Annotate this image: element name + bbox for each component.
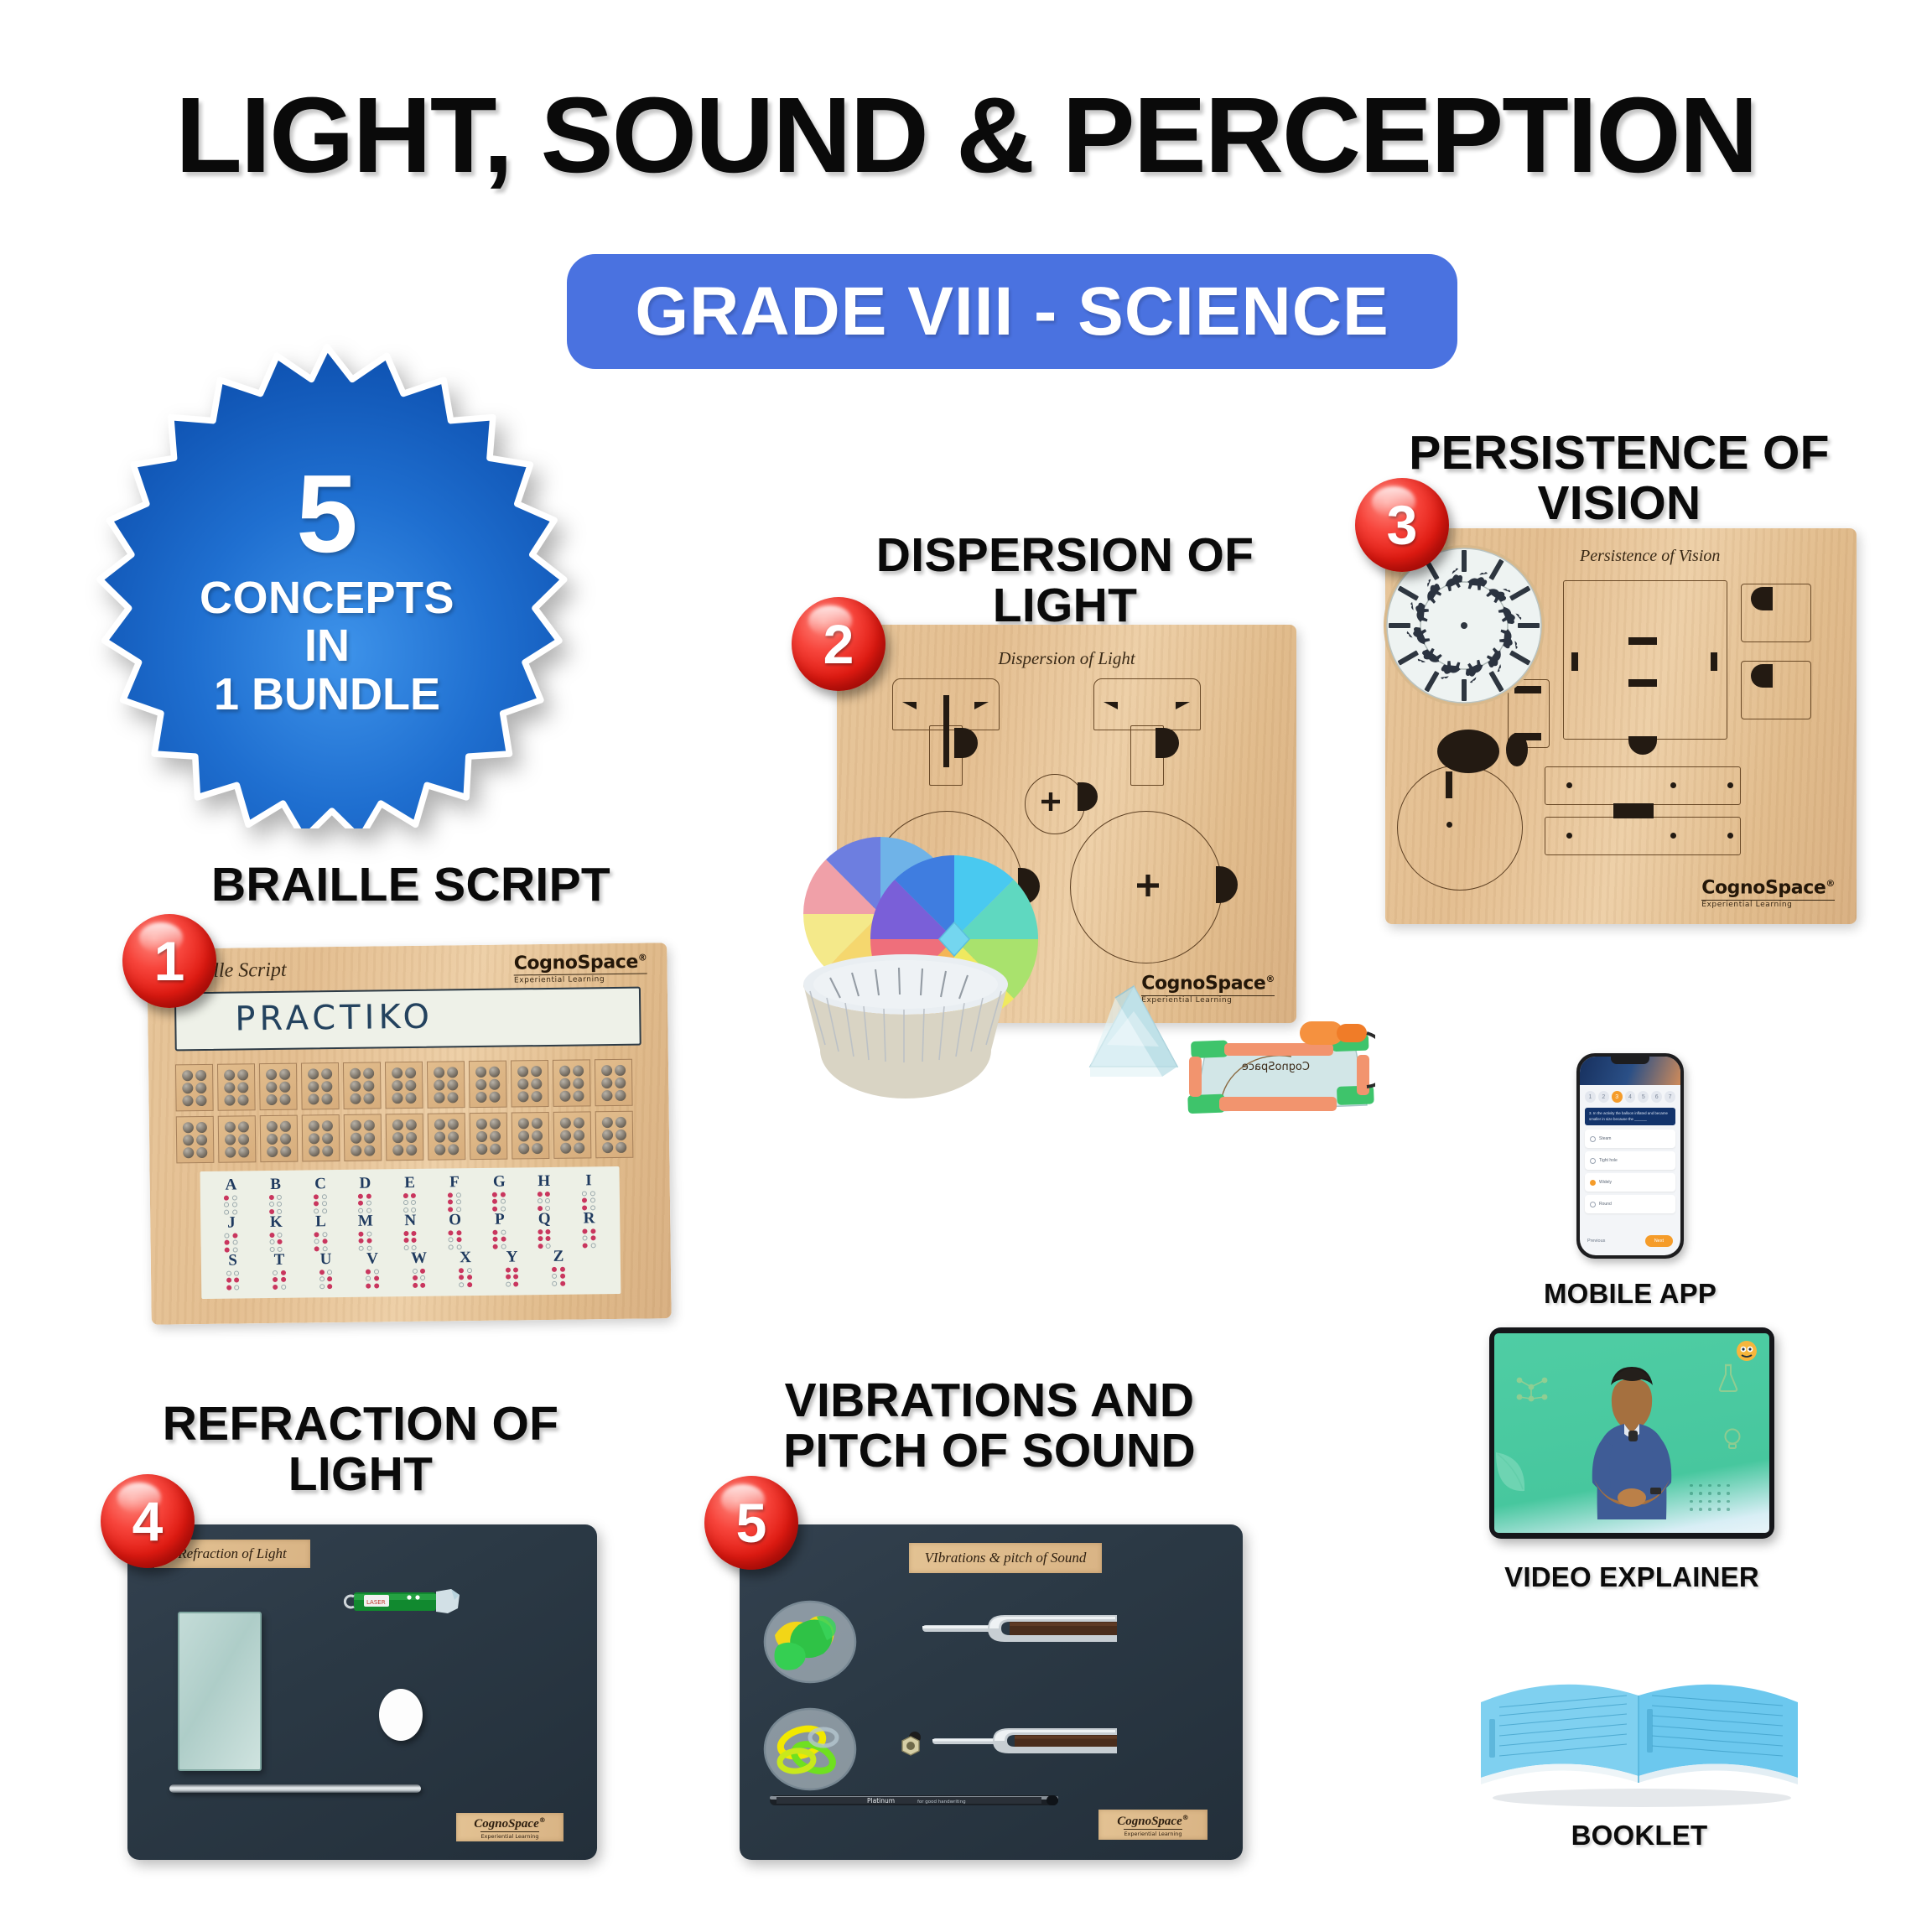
braille-peg[interactable] [518, 1118, 529, 1129]
braille-peg[interactable] [363, 1120, 374, 1131]
app-step-2[interactable]: 2 [1598, 1091, 1609, 1103]
braille-peg[interactable] [195, 1083, 206, 1093]
braille-alphabet-cell: S [210, 1252, 257, 1291]
app-step-6[interactable]: 6 [1651, 1091, 1662, 1103]
braille-peg[interactable] [238, 1146, 249, 1157]
braille-dot [224, 1196, 229, 1201]
braille-alphabet-cell: H [522, 1173, 567, 1212]
braille-peg[interactable] [573, 1117, 584, 1128]
braille-peg[interactable] [351, 1120, 361, 1131]
braille-dot [583, 1243, 588, 1248]
dispersion-accessories: CognoSpace [771, 822, 1375, 1124]
braille-dot [411, 1200, 416, 1205]
phone-screen[interactable]: 1 2 3 4 5 6 7 3. In the activity the bal… [1580, 1057, 1680, 1255]
braille-peg[interactable] [475, 1067, 486, 1078]
braille-peg[interactable] [224, 1070, 235, 1081]
pen[interactable]: Platinum for good handwriting [770, 1789, 1058, 1811]
braille-peg[interactable] [532, 1143, 543, 1154]
braille-peg[interactable] [406, 1145, 417, 1156]
braille-peg[interactable] [560, 1118, 571, 1129]
braille-peg[interactable] [531, 1078, 542, 1089]
braille-peg[interactable] [405, 1067, 416, 1078]
braille-letter: M [343, 1213, 388, 1230]
braille-peg[interactable] [237, 1082, 248, 1093]
braille-peg[interactable] [363, 1093, 374, 1104]
braille-dot [466, 1268, 471, 1273]
braille-dot [559, 1267, 564, 1272]
braille-peg[interactable] [489, 1131, 500, 1142]
braille-peg-cell[interactable] [217, 1063, 256, 1111]
braille-dot [281, 1277, 286, 1282]
braille-dot-pattern [566, 1191, 611, 1211]
braille-letter: F [432, 1174, 477, 1192]
braille-dot [366, 1276, 371, 1281]
app-step-4[interactable]: 4 [1625, 1091, 1636, 1103]
braille-peg[interactable] [517, 1078, 528, 1089]
app-step-1[interactable]: 1 [1585, 1091, 1596, 1103]
braille-peg[interactable] [182, 1083, 193, 1093]
glass-slab[interactable] [178, 1612, 262, 1771]
braille-dot [493, 1237, 498, 1242]
braille-dot-pattern [433, 1192, 478, 1213]
braille-dot [545, 1192, 550, 1197]
braille-peg[interactable] [434, 1092, 444, 1103]
braille-dot [420, 1275, 425, 1280]
braille-peg-cell[interactable] [343, 1062, 382, 1109]
braille-peg[interactable] [560, 1130, 571, 1141]
braille-peg[interactable] [447, 1131, 458, 1142]
braille-peg[interactable] [615, 1078, 626, 1088]
bracket-hole-bottom [1751, 664, 1773, 688]
cognospace-logo-refraction: CognoSpace® Experiential Learning [456, 1813, 563, 1841]
disc-shadow-b [1506, 733, 1528, 766]
braille-dot [224, 1202, 229, 1207]
app-step-5[interactable]: 5 [1638, 1091, 1649, 1103]
radio-icon-4[interactable] [1590, 1202, 1596, 1207]
braille-peg[interactable] [518, 1130, 529, 1141]
braille-peg[interactable] [447, 1067, 458, 1078]
braille-peg[interactable] [364, 1145, 375, 1156]
phone-icon[interactable]: 1 2 3 4 5 6 7 3. In the activity the bal… [1576, 1053, 1684, 1259]
braille-dot [281, 1285, 286, 1290]
radio-icon-3[interactable] [1590, 1180, 1596, 1186]
green-laser-pointer[interactable]: LASER [339, 1581, 476, 1622]
braille-peg[interactable] [392, 1119, 403, 1130]
braille-peg[interactable] [267, 1134, 278, 1145]
braille-peg-cell[interactable] [344, 1114, 382, 1161]
braille-peg[interactable] [392, 1080, 402, 1091]
braille-peg[interactable] [321, 1093, 332, 1104]
braille-peg[interactable] [225, 1135, 236, 1145]
section-title-dispersion: DISPERSION OF LIGHT [830, 530, 1300, 631]
app-option-3[interactable]: Widely [1585, 1173, 1675, 1192]
number-badge-1-value: 1 [154, 929, 185, 993]
braille-dot [501, 1199, 506, 1204]
braille-peg-cell[interactable] [176, 1116, 215, 1164]
braille-peg[interactable] [490, 1144, 501, 1155]
braille-dot-pattern [535, 1266, 582, 1286]
braille-peg[interactable] [183, 1147, 194, 1158]
braille-peg[interactable] [405, 1080, 416, 1091]
braille-dot [493, 1230, 498, 1235]
braille-writing-slate[interactable]: PRACTIKO [174, 987, 641, 1052]
braille-dot [492, 1199, 497, 1204]
pov-board-label: Persistence of Vision [1580, 547, 1720, 566]
braille-peg[interactable] [321, 1133, 332, 1144]
braille-peg-cell[interactable] [385, 1062, 423, 1109]
braille-peg[interactable] [351, 1133, 361, 1144]
braille-dot [321, 1194, 326, 1199]
braille-letter: C [298, 1176, 343, 1193]
braille-dot [366, 1239, 371, 1244]
braille-dot [411, 1193, 416, 1198]
braille-dot [226, 1278, 231, 1283]
braille-peg[interactable] [195, 1070, 206, 1081]
braille-peg[interactable] [601, 1065, 612, 1076]
braille-peg[interactable] [573, 1078, 584, 1088]
braille-peg-cell[interactable] [553, 1059, 591, 1107]
braille-peg[interactable] [601, 1078, 612, 1088]
braille-peg[interactable] [405, 1093, 416, 1104]
braille-peg[interactable] [392, 1093, 402, 1104]
braille-peg[interactable] [280, 1146, 291, 1157]
braille-peg[interactable] [322, 1145, 333, 1156]
braille-peg-cell[interactable] [469, 1061, 507, 1109]
braille-peg[interactable] [531, 1066, 542, 1077]
braille-peg[interactable] [447, 1119, 458, 1130]
braille-peg[interactable] [309, 1120, 319, 1131]
braille-peg-cell[interactable] [427, 1061, 465, 1109]
braille-peg[interactable] [351, 1145, 361, 1156]
braille-alphabet-cell: U [303, 1251, 350, 1290]
braille-peg[interactable] [392, 1132, 403, 1143]
braille-peg-row-2[interactable] [176, 1111, 634, 1164]
braille-peg[interactable] [279, 1121, 290, 1132]
braille-peg[interactable] [308, 1068, 319, 1079]
braille-peg-cell[interactable] [428, 1113, 466, 1161]
braille-peg[interactable] [267, 1146, 278, 1157]
app-option-4[interactable]: Round [1585, 1195, 1675, 1213]
number-badge-2-value: 2 [823, 612, 854, 676]
braille-alphabet-cell: Z [535, 1248, 582, 1286]
braille-dot [467, 1282, 472, 1287]
app-step-7[interactable]: 7 [1665, 1091, 1675, 1103]
slot-c [1571, 652, 1578, 671]
braille-peg[interactable] [266, 1082, 277, 1093]
booklet-icon[interactable] [1476, 1659, 1803, 1810]
braille-dot [538, 1192, 543, 1197]
braille-peg[interactable] [308, 1093, 319, 1104]
braille-peg[interactable] [321, 1081, 332, 1092]
braille-peg-cell[interactable] [260, 1115, 299, 1163]
white-disc[interactable] [379, 1689, 423, 1741]
braille-peg[interactable] [350, 1081, 361, 1092]
braille-peg[interactable] [363, 1133, 374, 1144]
app-previous-button[interactable]: Previous [1587, 1239, 1605, 1244]
braille-peg[interactable] [602, 1130, 613, 1140]
braille-peg[interactable] [350, 1093, 361, 1104]
svg-text:for good handwriting: for good handwriting [917, 1800, 966, 1805]
braille-peg[interactable] [279, 1134, 290, 1145]
grade-badge-label: GRADE VIII - SCIENCE [635, 273, 1389, 351]
braille-peg[interactable] [363, 1081, 374, 1092]
braille-peg-cell[interactable] [218, 1115, 257, 1163]
app-option-2[interactable]: Tight hole [1585, 1151, 1675, 1170]
braille-peg[interactable] [405, 1132, 416, 1143]
braille-peg-cell[interactable] [595, 1059, 633, 1107]
braille-script-board[interactable]: Braille Script CognoSpace® Experiential … [147, 943, 671, 1325]
braille-peg[interactable] [237, 1069, 248, 1080]
tablet-icon[interactable] [1489, 1327, 1774, 1539]
braille-dot [314, 1194, 319, 1199]
braille-dot-pattern [343, 1193, 388, 1213]
radio-icon-2[interactable] [1590, 1158, 1596, 1164]
app-step-3[interactable]: 3 [1612, 1091, 1623, 1103]
braille-peg[interactable] [615, 1130, 626, 1140]
app-option-1[interactable]: Steam [1585, 1130, 1675, 1148]
braille-peg-cell[interactable] [175, 1064, 214, 1112]
braille-dot-pattern [477, 1229, 522, 1249]
braille-peg[interactable] [195, 1122, 206, 1133]
vibrations-board-label: VIbrations & pitch of Sound [925, 1550, 1087, 1566]
braille-peg-cell[interactable] [511, 1060, 549, 1108]
refraction-of-light-board[interactable]: Refraction of Light LASER CognoSpace® Ex… [127, 1524, 597, 1860]
glass-prism [1090, 986, 1177, 1077]
braille-peg[interactable] [266, 1069, 277, 1080]
braille-peg[interactable] [267, 1121, 278, 1132]
tuning-fork-small[interactable] [932, 1722, 1130, 1763]
braille-dot [420, 1283, 425, 1288]
channel-logo-icon [1736, 1340, 1758, 1362]
braille-peg[interactable] [489, 1119, 500, 1130]
braille-peg[interactable] [573, 1090, 584, 1101]
radio-icon-1[interactable] [1590, 1136, 1596, 1142]
braille-peg[interactable] [434, 1144, 445, 1155]
braille-peg[interactable] [573, 1130, 584, 1140]
half-disc-right [1156, 728, 1179, 758]
braille-peg-cell[interactable] [301, 1062, 340, 1110]
braille-peg[interactable] [615, 1117, 626, 1128]
braille-peg[interactable] [615, 1142, 626, 1153]
braille-peg-cell[interactable] [512, 1112, 550, 1160]
braille-peg[interactable] [447, 1079, 458, 1090]
braille-dot [560, 1274, 565, 1279]
braille-dot-pattern [299, 1232, 344, 1252]
braille-letter: D [343, 1175, 388, 1192]
number-badge-4-value: 4 [132, 1489, 164, 1553]
braille-peg[interactable] [447, 1092, 458, 1103]
braille-peg-cell[interactable] [595, 1111, 634, 1159]
braille-peg[interactable] [182, 1095, 193, 1106]
braille-peg[interactable] [392, 1145, 403, 1156]
braille-peg[interactable] [279, 1082, 290, 1093]
braille-peg[interactable] [489, 1092, 500, 1103]
lower-disc-slit [1446, 771, 1452, 798]
braille-peg[interactable] [195, 1095, 206, 1106]
bar-connector [1613, 803, 1654, 818]
balloon-cup[interactable] [761, 1598, 859, 1685]
braille-peg[interactable] [237, 1121, 248, 1132]
braille-alphabet-cell: R [567, 1210, 612, 1249]
braille-peg[interactable] [224, 1083, 235, 1093]
braille-peg[interactable] [224, 1095, 235, 1106]
braille-letter: O [433, 1212, 478, 1229]
braille-peg[interactable] [225, 1122, 236, 1133]
braille-peg[interactable] [615, 1090, 626, 1101]
braille-peg[interactable] [321, 1068, 332, 1079]
braille-peg[interactable] [434, 1119, 445, 1130]
braille-peg[interactable] [531, 1130, 542, 1141]
half-disc-small [1078, 782, 1098, 811]
braille-peg[interactable] [266, 1094, 277, 1105]
braille-peg[interactable] [183, 1122, 194, 1133]
braille-dot [374, 1283, 379, 1288]
braille-peg[interactable] [183, 1135, 194, 1145]
braille-peg[interactable] [475, 1079, 486, 1090]
braille-dot [560, 1281, 565, 1286]
braille-alphabet-cell: N [387, 1213, 433, 1251]
braille-peg-cell[interactable] [302, 1114, 340, 1162]
braille-peg[interactable] [559, 1091, 570, 1102]
braille-peg-cell[interactable] [386, 1114, 424, 1161]
braille-peg[interactable] [434, 1067, 444, 1078]
braille-dot [278, 1233, 283, 1238]
braille-peg[interactable] [225, 1147, 236, 1158]
braille-alphabet-cell: G [477, 1173, 522, 1212]
braille-letter: J [209, 1214, 254, 1232]
section-title-refraction: REFRACTION OF LIGHT [126, 1399, 595, 1500]
braille-peg-cell[interactable] [470, 1113, 508, 1161]
braille-peg[interactable] [602, 1142, 613, 1153]
braille-dot-pattern [567, 1228, 612, 1249]
braille-peg[interactable] [602, 1117, 613, 1128]
braille-peg-cell[interactable] [553, 1111, 592, 1159]
braille-dot [448, 1230, 453, 1235]
braille-peg[interactable] [309, 1145, 319, 1156]
braille-dot [273, 1285, 278, 1290]
braille-peg[interactable] [489, 1079, 500, 1090]
braille-peg[interactable] [489, 1067, 500, 1078]
braille-peg[interactable] [350, 1068, 361, 1079]
braille-dot [582, 1198, 587, 1203]
braille-peg[interactable] [309, 1133, 319, 1144]
braille-peg[interactable] [195, 1135, 206, 1145]
braille-peg[interactable] [434, 1131, 445, 1142]
app-next-button[interactable]: Next [1645, 1235, 1673, 1247]
rubber-band-cup[interactable] [761, 1706, 859, 1793]
braille-peg[interactable] [308, 1081, 319, 1092]
braille-peg[interactable] [518, 1143, 529, 1154]
braille-dot [322, 1202, 327, 1207]
braille-peg[interactable] [182, 1070, 193, 1081]
braille-alphabet-cell: P [477, 1211, 522, 1249]
braille-peg[interactable] [363, 1068, 374, 1079]
braille-peg[interactable] [476, 1119, 487, 1130]
braille-alphabet-cell: E [387, 1175, 433, 1213]
braille-dot [456, 1238, 461, 1243]
braille-alphabet-cell: W [396, 1249, 443, 1288]
braille-peg[interactable] [405, 1119, 416, 1130]
braille-peg[interactable] [321, 1120, 332, 1131]
braille-peg[interactable] [517, 1066, 528, 1077]
section-title-pov: PERSISTENCE OF VISION [1380, 428, 1858, 529]
braille-dot [513, 1275, 518, 1280]
tab-cut [1628, 736, 1657, 755]
braille-dot [590, 1236, 595, 1241]
vibrations-pitch-of-sound-board[interactable]: VIbrations & pitch of Sound [740, 1524, 1243, 1860]
braille-alphabet-row: JKLMNOPQR [209, 1210, 612, 1253]
braille-peg[interactable] [448, 1144, 459, 1155]
braille-dot [412, 1231, 417, 1236]
braille-dot [232, 1233, 237, 1238]
braille-dot [366, 1201, 371, 1206]
braille-peg[interactable] [237, 1094, 248, 1105]
braille-written-word: PRACTIKO [235, 998, 434, 1039]
braille-peg-row-1[interactable] [175, 1059, 633, 1112]
braille-letter: Q [522, 1211, 567, 1228]
braille-peg[interactable] [560, 1143, 571, 1154]
braille-peg[interactable] [279, 1094, 290, 1105]
braille-peg[interactable] [476, 1144, 487, 1155]
braille-dot [589, 1191, 595, 1196]
braille-peg[interactable] [196, 1147, 207, 1158]
braille-dot [538, 1236, 543, 1241]
bundle-line-1: CONCEPTS [200, 574, 454, 622]
braille-alphabet-cell: M [343, 1213, 388, 1251]
braille-peg[interactable] [531, 1118, 542, 1129]
braille-peg[interactable] [615, 1065, 626, 1076]
braille-dot [582, 1228, 587, 1233]
metal-rod[interactable] [169, 1784, 421, 1793]
braille-letter: G [477, 1173, 522, 1191]
braille-peg-cell[interactable] [259, 1063, 298, 1111]
number-badge-3: 3 [1355, 478, 1449, 572]
braille-peg[interactable] [392, 1067, 402, 1078]
braille-peg[interactable] [559, 1078, 570, 1089]
video-screen[interactable] [1494, 1333, 1769, 1533]
tuning-fork-large[interactable] [922, 1608, 1132, 1650]
app-step-pills[interactable]: 1 2 3 4 5 6 7 [1580, 1085, 1680, 1106]
braille-dot [412, 1238, 417, 1243]
braille-dot [412, 1269, 417, 1274]
braille-letter: I [566, 1172, 611, 1190]
braille-dot [322, 1239, 327, 1244]
braille-alphabet-row: ABCDEFGHI [209, 1172, 612, 1215]
braille-peg[interactable] [559, 1066, 570, 1077]
braille-alphabet-cell: Y [489, 1249, 536, 1287]
nut-bolt[interactable] [889, 1729, 927, 1763]
braille-letter: E [387, 1175, 433, 1192]
braille-alphabet-cell: O [433, 1212, 478, 1250]
braille-peg[interactable] [279, 1069, 290, 1080]
bundle-count: 5 [296, 459, 357, 569]
braille-peg[interactable] [237, 1134, 248, 1145]
mobile-app-label: MOBILE APP [1513, 1278, 1748, 1310]
braille-dot [538, 1199, 543, 1204]
bar-hole-6 [1727, 833, 1733, 839]
braille-dot [226, 1285, 231, 1290]
braille-peg[interactable] [517, 1091, 528, 1102]
braille-peg[interactable] [476, 1131, 487, 1142]
braille-peg[interactable] [601, 1090, 612, 1101]
braille-dot [269, 1195, 274, 1200]
braille-peg[interactable] [574, 1142, 584, 1153]
braille-peg[interactable] [434, 1079, 444, 1090]
braille-peg[interactable] [573, 1065, 584, 1076]
braille-dot [501, 1237, 506, 1242]
braille-peg[interactable] [475, 1092, 486, 1103]
braille-peg[interactable] [531, 1091, 542, 1102]
